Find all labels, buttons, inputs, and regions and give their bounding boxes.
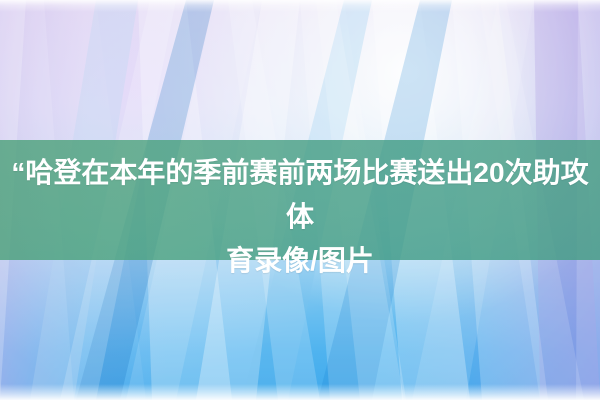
caption-text: “哈登在本年的季前赛前两场比赛送出20次助攻体 育录像/图片 <box>0 151 600 283</box>
decorative-banner: “哈登在本年的季前赛前两场比赛送出20次助攻体 育录像/图片 <box>0 0 600 400</box>
